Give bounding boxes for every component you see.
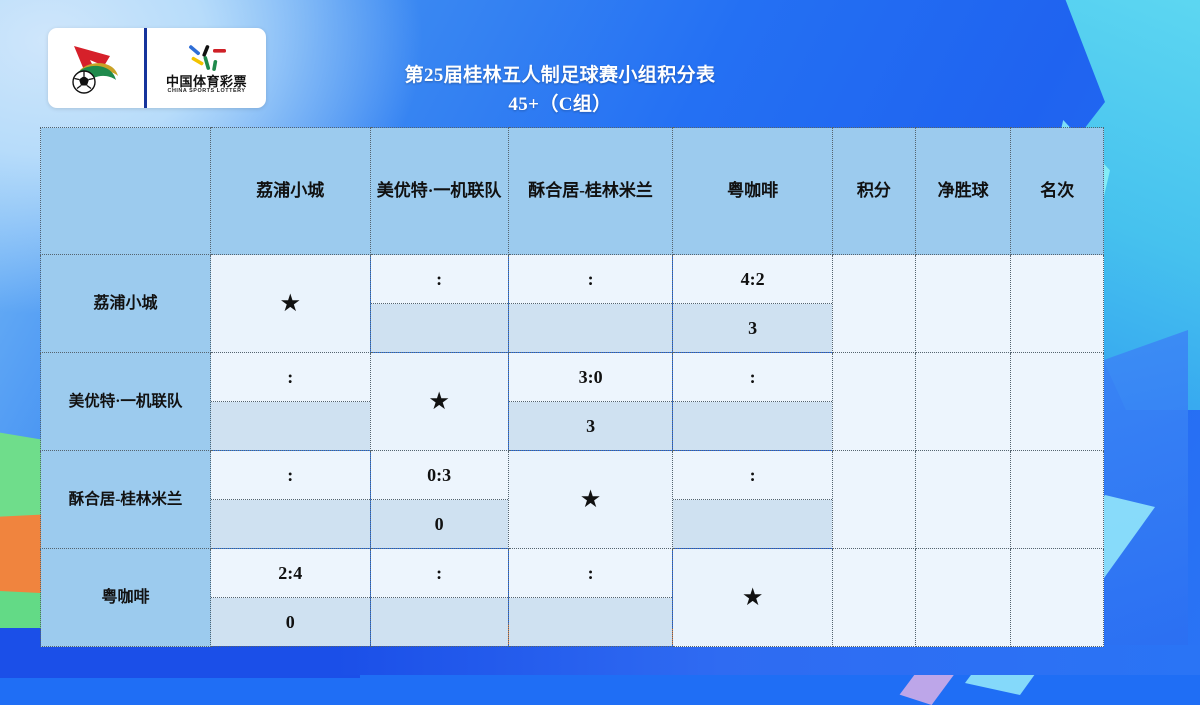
match-score: 0:3: [371, 451, 508, 500]
match-score: :: [673, 353, 831, 402]
match-result-cell[interactable]: 2:40: [211, 549, 370, 647]
team-name-cell: 荔浦小城: [41, 255, 211, 353]
table-row: 美优特·一机联队:★3:03:: [41, 353, 1104, 451]
match-points: [509, 598, 673, 646]
self-cell-star: ★: [673, 549, 832, 647]
match-result-cell[interactable]: :: [211, 451, 370, 549]
rank-cell[interactable]: [1011, 451, 1104, 549]
match-score: 3:0: [509, 353, 673, 402]
lottery-name-cn: 中国体育彩票: [166, 75, 247, 88]
team-name-cell: 粤咖啡: [41, 549, 211, 647]
lottery-name-en: CHINA SPORTS LOTTERY: [168, 89, 246, 94]
title-main-line: 第25届桂林五人制足球赛小组积分表: [280, 62, 840, 91]
match-score: :: [211, 451, 369, 500]
match-points: [371, 598, 508, 646]
self-cell-star: ★: [370, 353, 508, 451]
match-points: [509, 304, 673, 352]
points-total-cell[interactable]: [832, 549, 915, 647]
points-total-cell[interactable]: [832, 255, 915, 353]
match-result-cell[interactable]: :: [673, 451, 832, 549]
match-score: :: [673, 451, 831, 500]
match-result-cell[interactable]: :: [370, 549, 508, 647]
points-total-cell[interactable]: [832, 353, 915, 451]
match-points: 3: [673, 304, 831, 352]
match-score: 4:2: [673, 255, 831, 304]
goal-diff-cell[interactable]: [915, 451, 1011, 549]
match-points: [211, 402, 369, 450]
match-score: :: [509, 255, 673, 304]
team-name-cell: 酥合居-桂林米兰: [41, 451, 211, 549]
goal-diff-cell[interactable]: [915, 255, 1011, 353]
sponsor-logo-box: 中国体育彩票 CHINA SPORTS LOTTERY: [48, 28, 266, 108]
column-header-2: 美优特·一机联队: [370, 128, 508, 255]
match-result-cell[interactable]: :: [370, 255, 508, 353]
column-header-5: 积分: [832, 128, 915, 255]
column-header-7: 名次: [1011, 128, 1104, 255]
match-points: 0: [371, 500, 508, 548]
match-points: [371, 304, 508, 352]
title-sub-line: 45+（C组）: [280, 91, 840, 120]
match-result-cell[interactable]: :: [211, 353, 370, 451]
column-header-3: 酥合居-桂林米兰: [508, 128, 673, 255]
table-header-row: 荔浦小城美优特·一机联队酥合居-桂林米兰粤咖啡积分净胜球名次: [41, 128, 1104, 255]
column-header-1: 荔浦小城: [211, 128, 370, 255]
team-name-cell: 美优特·一机联队: [41, 353, 211, 451]
match-score: :: [371, 255, 508, 304]
table-corner-header: [41, 128, 211, 255]
match-score: :: [509, 549, 673, 598]
match-points: 3: [509, 402, 673, 450]
standings-table: 荔浦小城美优特·一机联队酥合居-桂林米兰粤咖啡积分净胜球名次 荔浦小城★::4:…: [40, 127, 1104, 647]
goal-diff-cell[interactable]: [915, 549, 1011, 647]
rank-cell[interactable]: [1011, 353, 1104, 451]
blue-band-bottom: [0, 645, 1200, 675]
table-row: 粤咖啡2:40::★: [41, 549, 1104, 647]
match-points: [211, 500, 369, 548]
self-cell-star: ★: [211, 255, 370, 353]
standings-table-container: 荔浦小城美优特·一机联队酥合居-桂林米兰粤咖啡积分净胜球名次 荔浦小城★::4:…: [40, 127, 1104, 645]
match-points: 0: [211, 598, 369, 646]
column-header-6: 净胜球: [915, 128, 1011, 255]
match-score: :: [211, 353, 369, 402]
match-result-cell[interactable]: 4:23: [673, 255, 832, 353]
match-result-cell[interactable]: :: [673, 353, 832, 451]
match-result-cell[interactable]: :: [508, 549, 673, 647]
cfa-football-logo-icon: [48, 28, 144, 108]
china-sports-lottery-logo-icon: 中国体育彩票 CHINA SPORTS LOTTERY: [147, 28, 266, 108]
match-points: [673, 402, 831, 450]
self-cell-star: ★: [508, 451, 673, 549]
match-points: [673, 500, 831, 548]
match-result-cell[interactable]: 0:30: [370, 451, 508, 549]
table-row: 荔浦小城★::4:23: [41, 255, 1104, 353]
table-body: 荔浦小城★::4:23美优特·一机联队:★3:03:酥合居-桂林米兰:0:30★…: [41, 255, 1104, 647]
goal-diff-cell[interactable]: [915, 353, 1011, 451]
table-row: 酥合居-桂林米兰:0:30★:: [41, 451, 1104, 549]
match-result-cell[interactable]: 3:03: [508, 353, 673, 451]
match-score: 2:4: [211, 549, 369, 598]
match-result-cell[interactable]: :: [508, 255, 673, 353]
match-score: :: [371, 549, 508, 598]
page-title: 第25届桂林五人制足球赛小组积分表 45+（C组）: [280, 62, 840, 119]
rank-cell[interactable]: [1011, 549, 1104, 647]
column-header-4: 粤咖啡: [673, 128, 832, 255]
rank-cell[interactable]: [1011, 255, 1104, 353]
points-total-cell[interactable]: [832, 451, 915, 549]
